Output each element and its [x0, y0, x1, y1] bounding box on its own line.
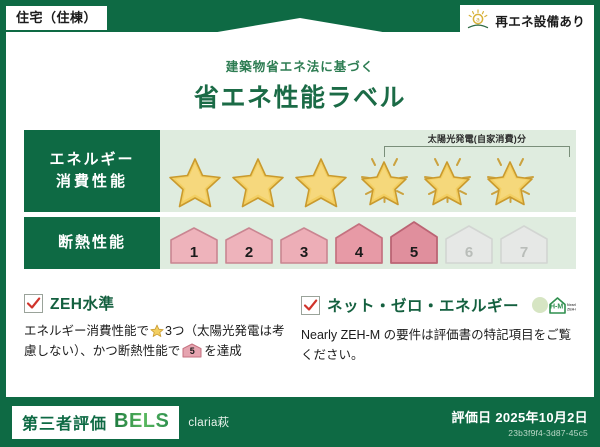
- insulation-level-number: 7: [498, 244, 550, 261]
- insulation-level-6: 6: [443, 224, 495, 266]
- inline-star-icon: [150, 323, 164, 336]
- energy-label-line2: 消費性能: [56, 171, 128, 193]
- zeh-m-logo-sub1: Nearly: [567, 303, 576, 307]
- star-filled: [227, 150, 290, 208]
- inline-house-badge: 5: [182, 343, 202, 358]
- net-zero-energy-column: ネット・ゼロ・エネルギー H-M Nearly ZEH-M Nearly ZEH…: [301, 292, 576, 366]
- star-solar: [416, 150, 479, 208]
- insulation-level-number: 2: [223, 244, 275, 261]
- insulation-level-group: 1 2 3 4: [168, 220, 550, 266]
- insulation-level-number: 3: [278, 244, 330, 261]
- insulation-level-number: 6: [443, 244, 495, 261]
- insulation-performance-row: 断熱性能 1 2 3: [24, 217, 576, 269]
- insulation-level-number: 5: [388, 244, 440, 261]
- zeh-body-post: を達成: [204, 344, 242, 358]
- zeh-body-pre: エネルギー消費性能で: [24, 324, 149, 338]
- sun-icon: a: [466, 9, 490, 31]
- insulation-level-4: 4: [333, 222, 385, 266]
- insulation-label-text: 断熱性能: [58, 232, 126, 254]
- energy-stars-area: 太陽光発電(自家消費)分: [160, 130, 576, 212]
- renewable-equipment-label: 再エネ設備あり: [495, 11, 585, 30]
- rating-panel: エネルギー 消費性能 太陽光発電(自家消費)分: [24, 130, 576, 274]
- zeh-standard-title: ZEH水準: [50, 292, 115, 314]
- inline-house-value: 5: [182, 344, 202, 359]
- insulation-level-number: 1: [168, 244, 220, 261]
- energy-performance-label: エネルギー 消費性能: [24, 130, 160, 212]
- checkbox-checked-icon: [24, 294, 43, 313]
- checkbox-checked-icon: [301, 296, 320, 315]
- solar-bracket-label: 太陽光発電(自家消費)分: [382, 132, 572, 145]
- energy-performance-row: エネルギー 消費性能 太陽光発電(自家消費)分: [24, 130, 576, 212]
- star-solar: [479, 150, 542, 208]
- insulation-level-1: 1: [168, 226, 220, 266]
- net-zero-energy-title: ネット・ゼロ・エネルギー: [327, 294, 519, 316]
- insulation-level-2: 2: [223, 226, 275, 266]
- evaluation-date: 評価日 2025年10月2日: [452, 407, 588, 426]
- insulation-level-7: 7: [498, 224, 550, 266]
- third-party-evaluation-label: 第三者評価: [22, 410, 107, 434]
- zeh-body-star-count: 3つ（太陽光発電: [165, 324, 259, 338]
- evaluation-date-label: 評価日: [452, 410, 492, 425]
- energy-label-root: 住宅（住棟） a 再エネ設備あり 建築物省エネ法に基づく 省エネ性能ラベル: [0, 0, 600, 447]
- bels-logo-text: BELS: [114, 410, 169, 433]
- net-zero-energy-header: ネット・ゼロ・エネルギー H-M Nearly ZEH-M: [301, 292, 576, 318]
- bels-certification-badge: 第三者評価 BELS: [12, 406, 179, 439]
- building-type-label: 住宅（住棟）: [16, 10, 97, 25]
- insulation-level-3: 3: [278, 226, 330, 266]
- insulation-performance-label: 断熱性能: [24, 217, 160, 269]
- evaluation-info: 評価日 2025年10月2日 23b3f9f4-3d87-45c5: [452, 407, 588, 438]
- energy-label-line1: エネルギー: [49, 149, 134, 171]
- zeh-section: ZEH水準 エネルギー消費性能で3つ（太陽光発電は考慮しない）、かつ断熱性能で5…: [24, 292, 576, 366]
- evaluation-date-value: 2025年10月2日: [495, 410, 588, 425]
- star-filled: [290, 150, 353, 208]
- insulation-level-number: 4: [333, 244, 385, 261]
- label-title-block: 建築物省エネ法に基づく 省エネ性能ラベル: [0, 56, 600, 114]
- insulation-levels-area: 1 2 3 4: [160, 217, 576, 269]
- zeh-m-logo-sub2: ZEH-M: [567, 307, 576, 311]
- zeh-standard-column: ZEH水準 エネルギー消費性能で3つ（太陽光発電は考慮しない）、かつ断熱性能で5…: [24, 292, 287, 366]
- zeh-standard-body: エネルギー消費性能で3つ（太陽光発電は考慮しない）、かつ断熱性能で5を達成: [24, 321, 287, 362]
- title-subtitle: 建築物省エネ法に基づく: [0, 56, 600, 75]
- evaluation-id: 23b3f9f4-3d87-45c5: [452, 428, 588, 438]
- zeh-standard-header: ZEH水準: [24, 292, 287, 314]
- property-name: claria萩: [188, 414, 229, 430]
- svg-text:H-M: H-M: [550, 304, 563, 311]
- net-zero-energy-body: Nearly ZEH-M の要件は評価書の特記項目をご覧ください。: [301, 325, 576, 366]
- building-type-badge: 住宅（住棟）: [6, 6, 107, 30]
- page-title: 省エネ性能ラベル: [0, 78, 600, 114]
- footer-bar: 第三者評価 BELS claria萩 評価日 2025年10月2日 23b3f9…: [0, 397, 600, 447]
- svg-text:a: a: [477, 17, 481, 24]
- insulation-level-5: 5: [388, 220, 440, 266]
- zeh-m-logo-icon: H-M Nearly ZEH-M: [530, 292, 576, 318]
- star-rating-group: [164, 150, 542, 208]
- renewable-equipment-badge: a 再エネ設備あり: [460, 5, 594, 36]
- star-filled: [164, 150, 227, 208]
- star-solar: [353, 150, 416, 208]
